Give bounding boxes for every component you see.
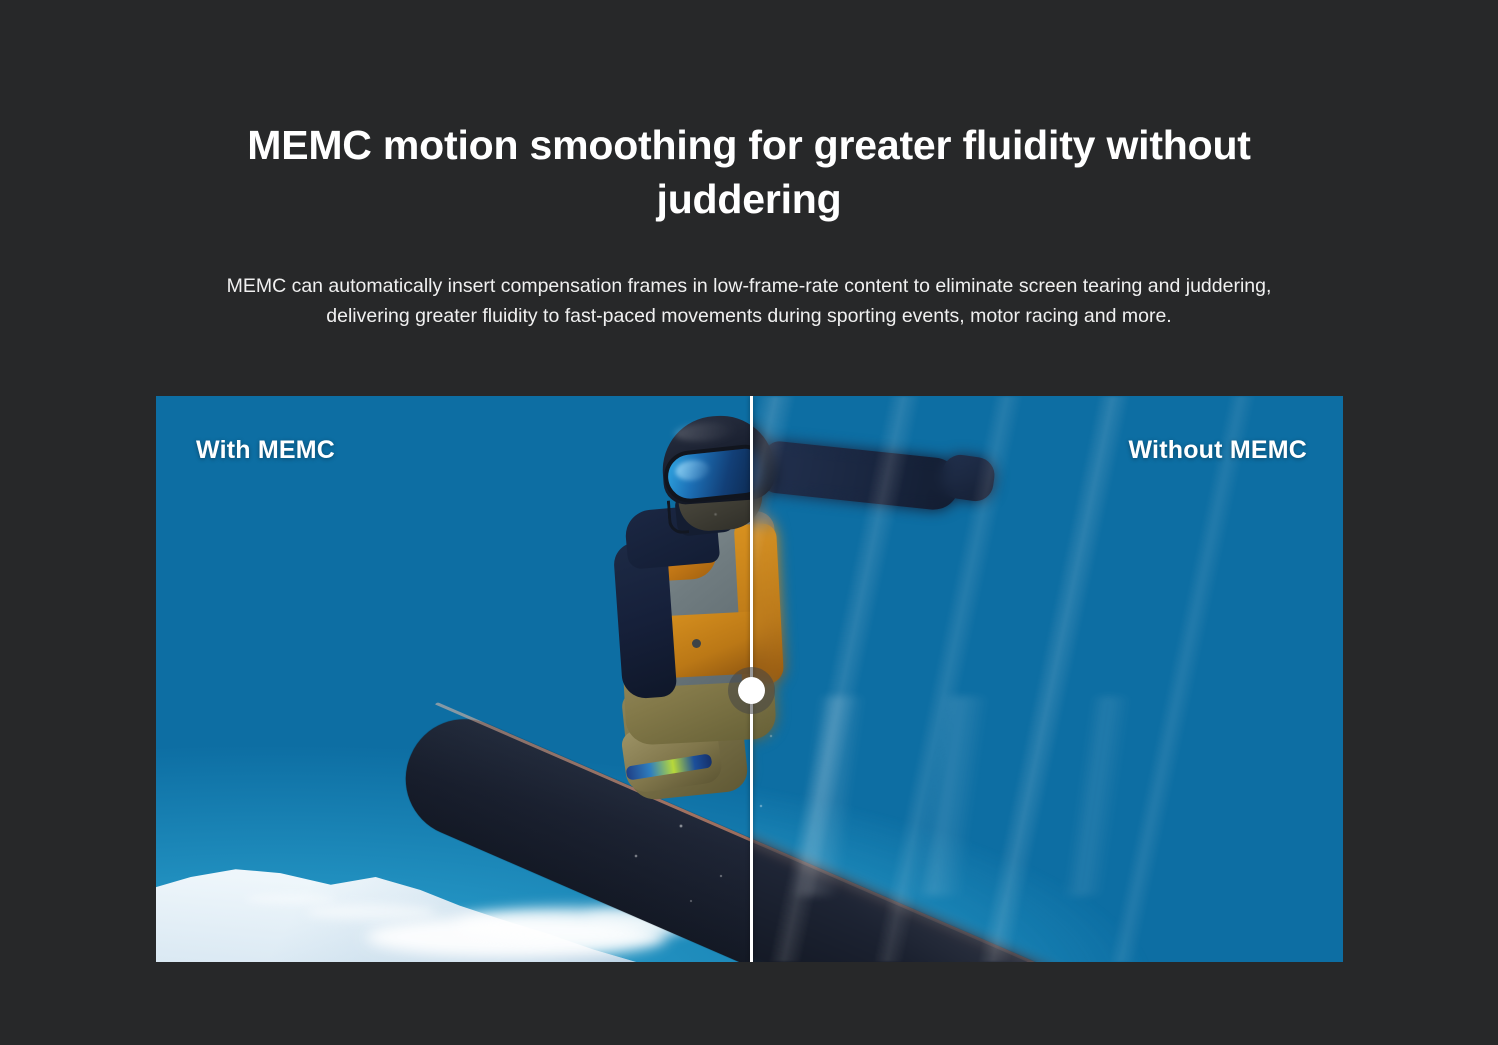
label-without-memc: Without MEMC: [1128, 436, 1307, 465]
label-with-memc: With MEMC: [196, 436, 335, 465]
memc-comparison-slider[interactable]: With MEMC Without MEMC: [156, 396, 1343, 962]
slider-handle-icon: [738, 677, 765, 704]
page-title: MEMC motion smoothing for greater fluidi…: [194, 118, 1304, 226]
memc-feature-page: MEMC motion smoothing for greater fluidi…: [0, 0, 1498, 1045]
comparison-slider-handle[interactable]: [728, 667, 775, 714]
jacket-pocket-button: [692, 639, 701, 648]
rider-far-arm: [760, 440, 962, 512]
page-subtitle: MEMC can automatically insert compensati…: [184, 272, 1314, 331]
heading-block: MEMC motion smoothing for greater fluidi…: [0, 118, 1498, 331]
